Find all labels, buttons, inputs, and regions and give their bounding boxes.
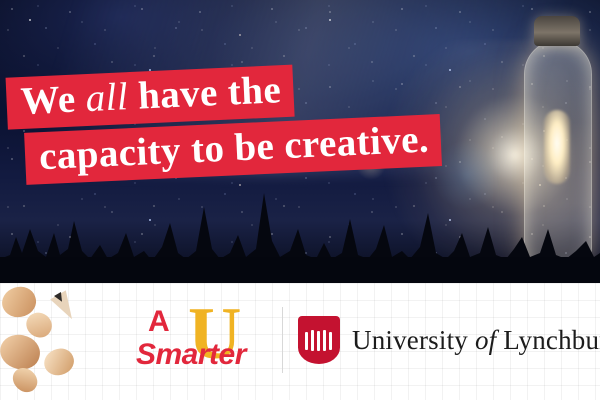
crest-detail-lines [305, 330, 333, 352]
pencil-tip-icon [50, 290, 80, 323]
university-name-text: University of Lynchburg [352, 325, 600, 355]
smarter-u-word-smarter: Smarter [136, 339, 246, 371]
a-smarter-u-logo: U A Smarter [136, 297, 268, 383]
pencil-shavings-decoration [0, 283, 130, 400]
lamp-cap [534, 16, 580, 46]
advertisement-banner: We all have the capacity to be creative.… [0, 0, 600, 400]
university-name-part2: Lynchburg [496, 325, 600, 355]
university-name-part1: University [352, 325, 475, 355]
university-of-lynchburg-logo: University of Lynchburg [298, 307, 600, 373]
ground-shadow [0, 257, 600, 283]
headline-emphasis-all: all [85, 75, 129, 120]
smarter-u-letter-a: A [148, 307, 170, 337]
pencil-shaving [8, 363, 42, 397]
headline-line1-part1: We [20, 77, 87, 123]
pencil-shaving [40, 344, 78, 380]
footer-logo-band: U A Smarter University of Lynchburg [0, 283, 600, 400]
lynchburg-crest-icon [298, 316, 340, 364]
logo-divider [282, 307, 283, 373]
headline-line1-part2: have the [127, 68, 282, 118]
university-name-of: of [475, 325, 496, 355]
